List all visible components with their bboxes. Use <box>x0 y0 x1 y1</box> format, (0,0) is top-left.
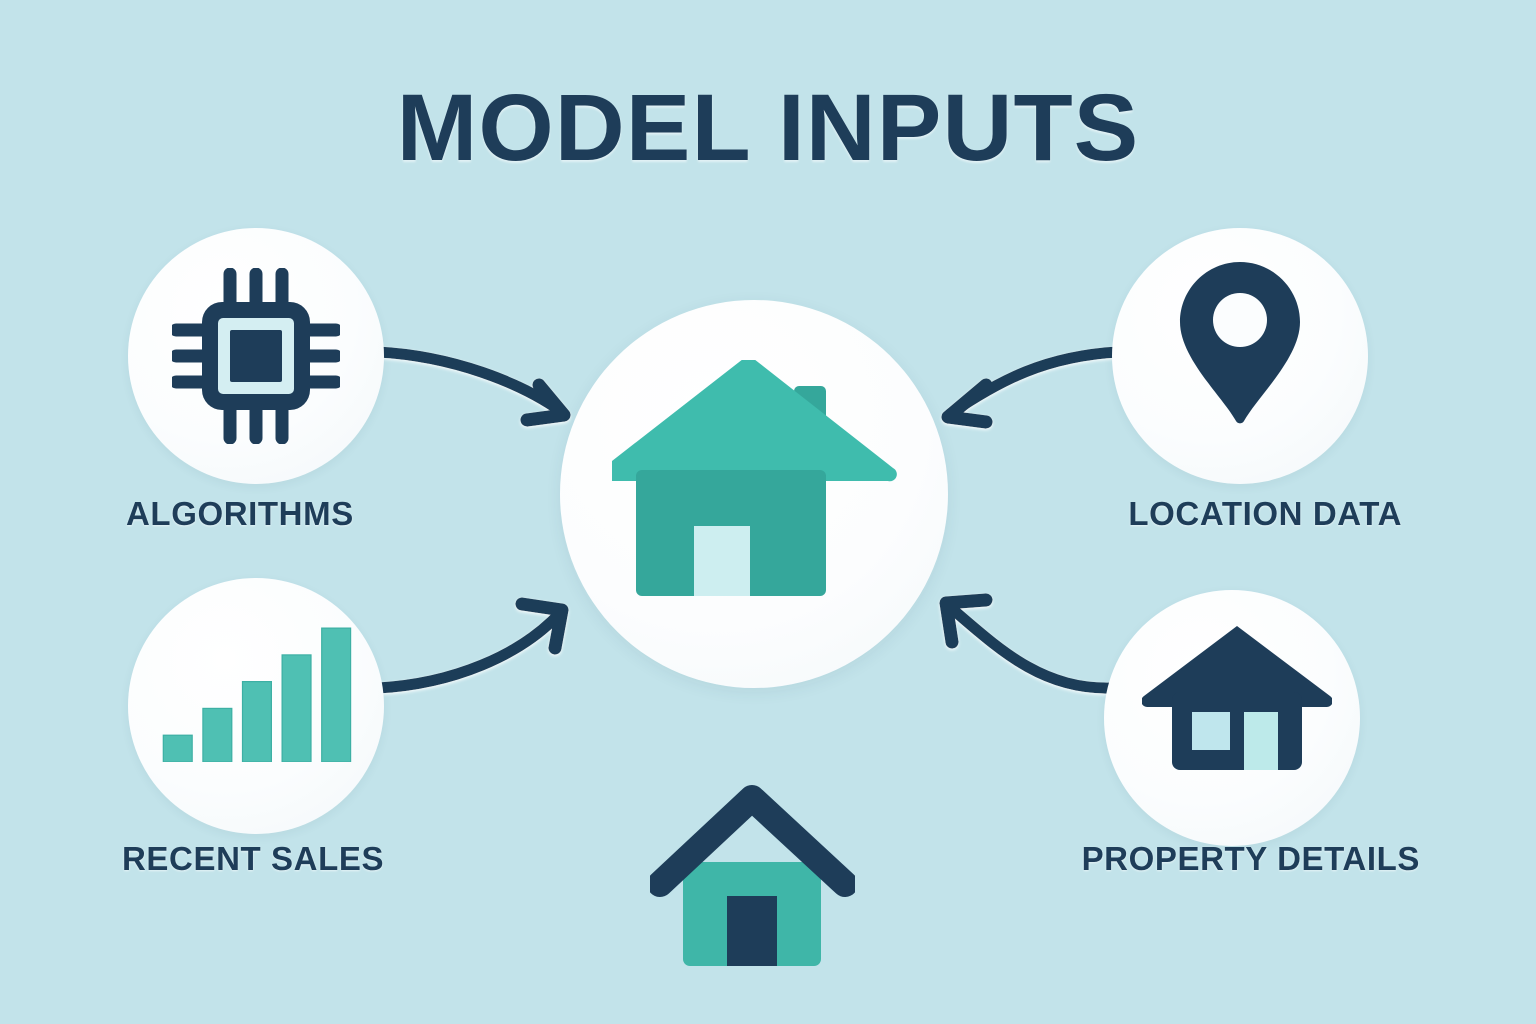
node-circle-algorithms[interactable] <box>128 228 384 484</box>
node-label-algorithms: ALGORITHMS <box>126 495 354 533</box>
node-label-recent-sales: RECENT SALES <box>122 840 384 878</box>
arrow-property-to-center <box>946 600 1112 688</box>
node-circle-location-data[interactable] <box>1112 228 1368 484</box>
diagram-canvas: MODEL INPUTS <box>0 0 1536 1024</box>
arrow-location-to-center <box>948 352 1118 422</box>
node-circle-property-details[interactable] <box>1104 590 1360 846</box>
node-label-location-data: LOCATION DATA <box>1128 495 1402 533</box>
node-circle-center-house[interactable] <box>560 300 948 688</box>
node-label-property-details: PROPERTY DETAILS <box>1082 840 1420 878</box>
page-title: MODEL INPUTS <box>0 78 1536 178</box>
node-circle-recent-sales[interactable] <box>128 578 384 834</box>
arrow-algorithms-to-center <box>378 352 564 420</box>
arrow-recent-sales-to-center <box>378 604 562 688</box>
